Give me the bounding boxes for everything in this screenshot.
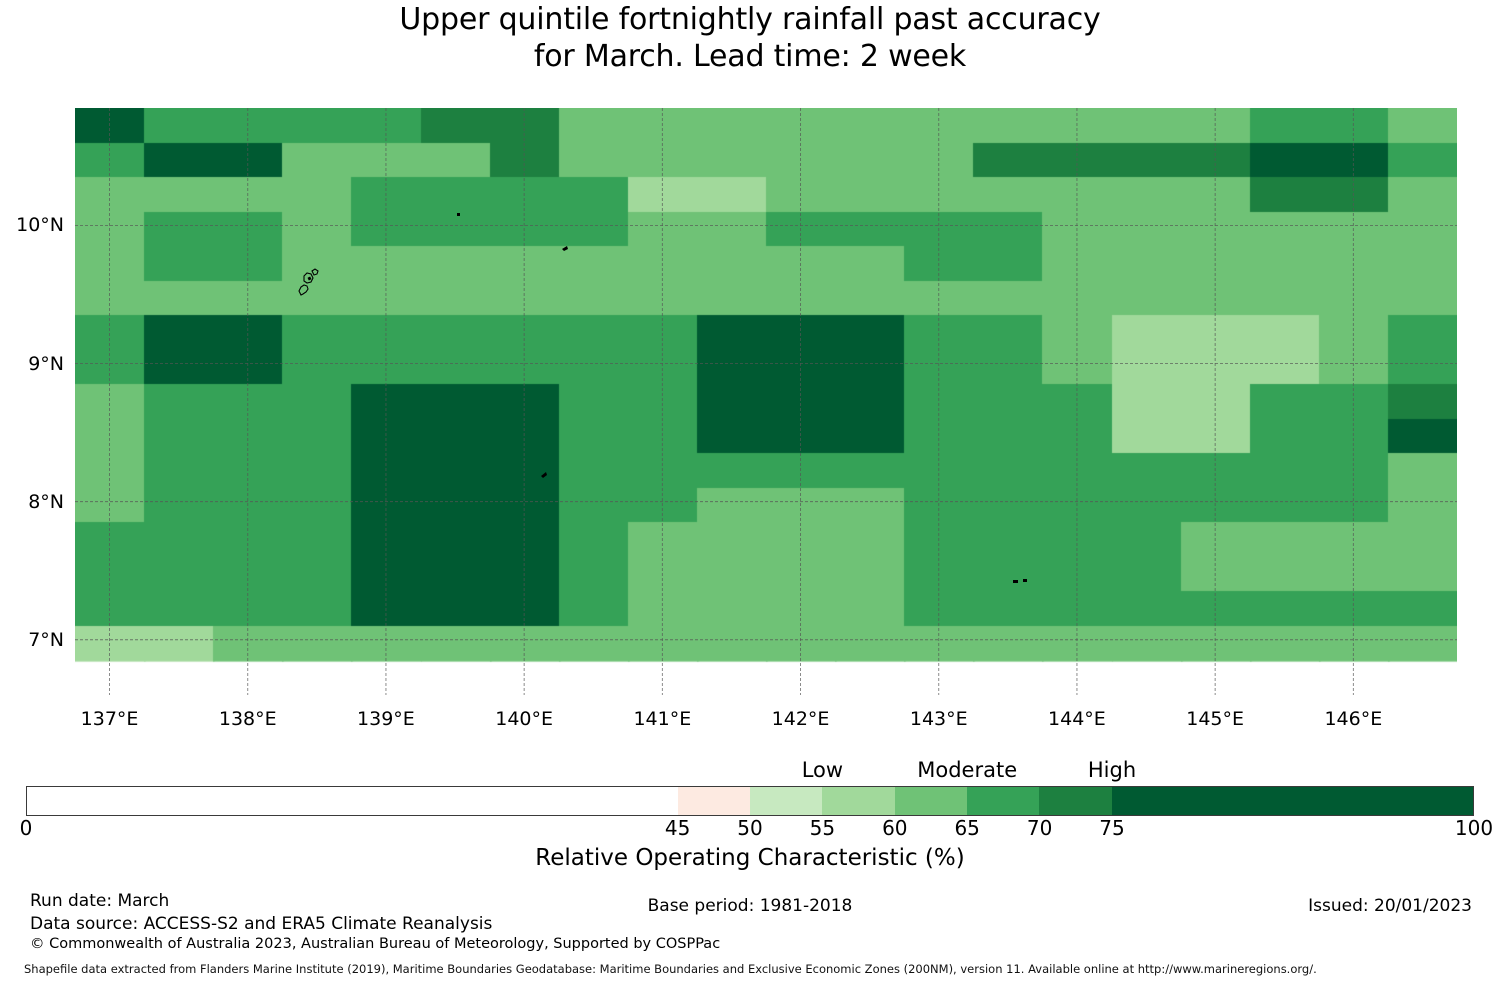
copyright-text: © Commonwealth of Australia 2023, Austra… xyxy=(30,935,720,954)
x-axis-tick-label: 144°E xyxy=(1022,708,1132,730)
x-axis-tick-label: 145°E xyxy=(1160,708,1270,730)
colorbar-segment xyxy=(1112,787,1474,815)
colorbar-strip xyxy=(26,786,1474,816)
y-axis-tick-label: 9°N xyxy=(2,353,64,375)
data-source-text: Data source: ACCESS-S2 and ERA5 Climate … xyxy=(30,913,720,936)
colorbar xyxy=(26,786,1474,816)
issued-date-text: Issued: 20/01/2023 xyxy=(1308,896,1472,916)
base-period-text: Base period: 1981-2018 xyxy=(0,896,1500,916)
colorbar-segment xyxy=(822,787,894,815)
x-axis-tick-label: 141°E xyxy=(607,708,717,730)
shapefile-attribution-text: Shapefile data extracted from Flanders M… xyxy=(24,962,1317,976)
y-axis-tick-label: 7°N xyxy=(2,629,64,651)
colorbar-category-label: High xyxy=(1012,758,1212,782)
y-axis-tick-label: 8°N xyxy=(2,491,64,513)
colorbar-segment xyxy=(678,787,750,815)
x-axis-tick-label: 137°E xyxy=(55,708,165,730)
colorbar-segment xyxy=(1039,787,1111,815)
colorbar-axis-title: Relative Operating Characteristic (%) xyxy=(0,845,1500,871)
colorbar-segment xyxy=(750,787,822,815)
x-axis-tick-label: 138°E xyxy=(193,708,303,730)
x-axis-tick-label: 143°E xyxy=(884,708,994,730)
colorbar-tick-label: 100 xyxy=(1414,816,1500,840)
colorbar-tick-label: 0 xyxy=(0,816,86,840)
x-axis-tick-label: 146°E xyxy=(1298,708,1408,730)
x-axis-tick-label: 139°E xyxy=(331,708,441,730)
x-axis-tick-label: 142°E xyxy=(746,708,856,730)
y-axis-tick-label: 10°N xyxy=(2,214,64,236)
colorbar-tick-label: 75 xyxy=(1052,816,1172,840)
y-axis-ticks: 10°N9°N8°N7°N xyxy=(0,0,1500,990)
colorbar-segment xyxy=(895,787,967,815)
colorbar-segment xyxy=(967,787,1039,815)
colorbar-segment xyxy=(27,787,678,815)
x-axis-tick-label: 140°E xyxy=(469,708,579,730)
